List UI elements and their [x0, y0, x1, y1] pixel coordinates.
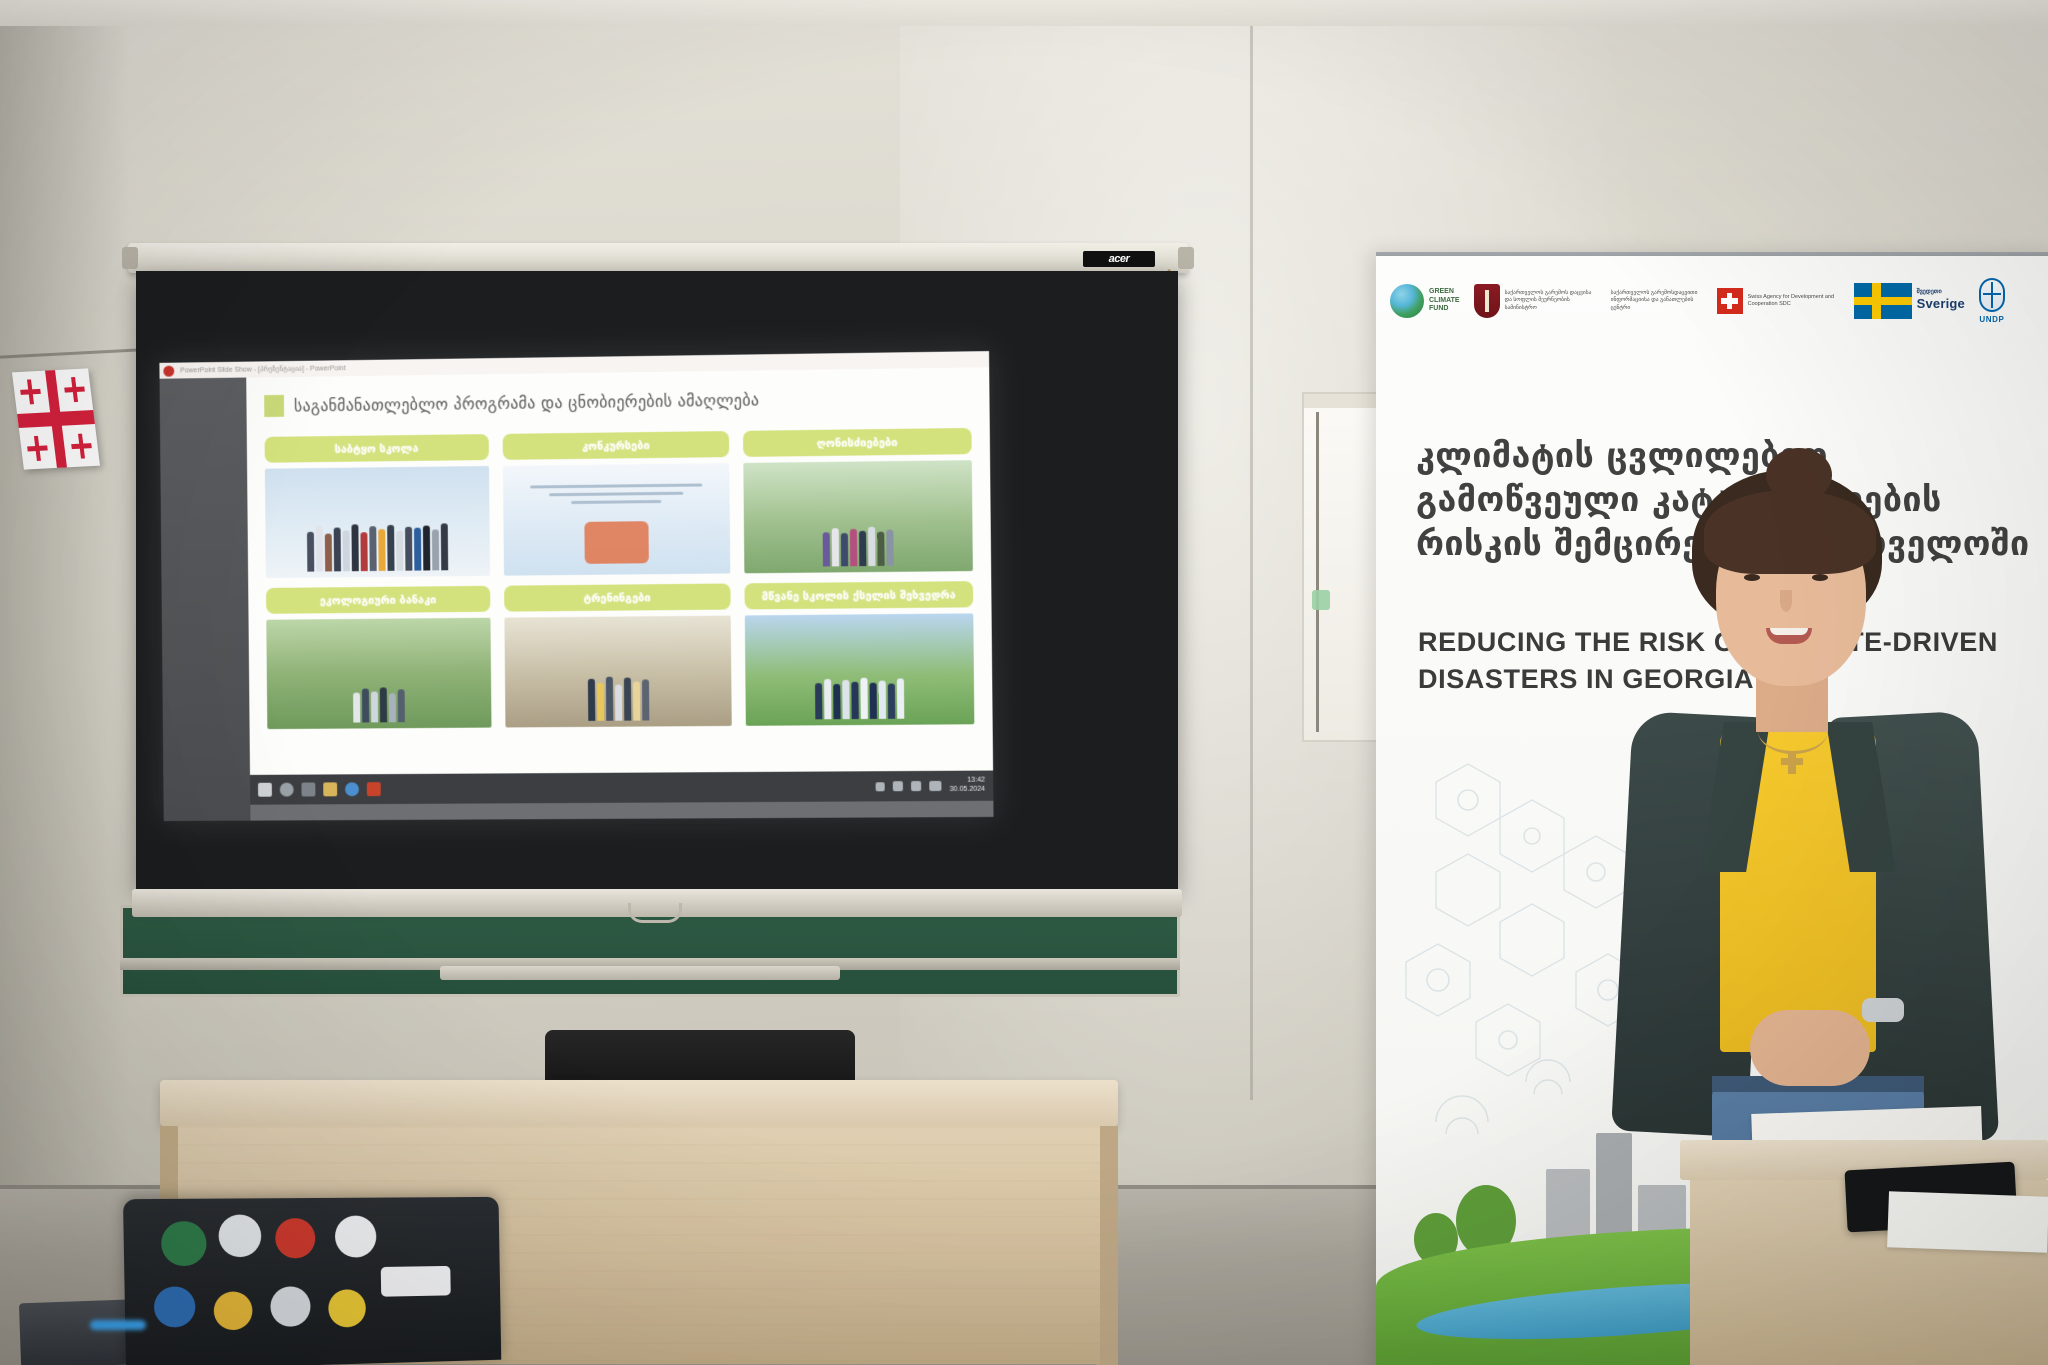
flag-small-cross-2: [63, 376, 86, 402]
slide-cell-photo-outdoor-event: [743, 460, 973, 573]
eyebrow-left: [1740, 562, 1766, 566]
screen-pull-handle[interactable]: [628, 903, 682, 923]
laptop-power-led: [90, 1320, 146, 1330]
poster-graphic: [585, 521, 649, 563]
sweden-caption: შვედეთი Sverige: [1917, 289, 1965, 314]
slide-photo-grid: საბტყო სკოლა: [265, 428, 975, 729]
screen-cap-left: [122, 247, 138, 269]
cross-pendant-icon: [1788, 752, 1796, 774]
agency-caption: საქართველოს გარემოსდაცვითი ინფორმაციისა …: [1611, 290, 1703, 311]
gcf-line-2: CLIMATE: [1429, 297, 1460, 306]
teacher-desk-top[interactable]: [160, 1080, 1118, 1126]
photo-figures: [744, 509, 973, 568]
sticker: [213, 1291, 252, 1330]
green-clip: [1312, 590, 1330, 610]
taskbar-clock[interactable]: 13:42 30.05.2024: [949, 777, 985, 795]
windows-taskbar[interactable]: 13:42 30.05.2024: [250, 771, 993, 805]
powerpoint-icon[interactable]: [367, 782, 381, 796]
slide-cell-label: საბტყო სკოლა: [265, 434, 489, 463]
teeth: [1770, 628, 1808, 635]
undp-laurel-icon: [1979, 278, 2005, 312]
slide-cell-photo-group-photo-snow: [265, 466, 490, 578]
flag-small-cross-3: [26, 435, 49, 461]
slide-cell-label: მწვანე სკოლის ქსელის შეხვედრა: [744, 581, 973, 609]
chevron-up-icon[interactable]: [876, 782, 885, 791]
sweden-flag-icon: [1854, 283, 1912, 319]
slide-heading: საგანმანათლებლო პროგრამა და ცნობიერების …: [294, 390, 760, 415]
banner-top-rail: [1376, 252, 2048, 256]
sweden-caption-ka: შვედეთი: [1917, 289, 1965, 297]
hair-front: [1704, 490, 1876, 574]
slide-cell: ტრენინგები: [504, 583, 732, 727]
slide-cell-label: ეკოლოგიური ბანაკი: [266, 586, 490, 614]
gcf-line-1: GREEN: [1429, 288, 1460, 297]
screen-roller-housing[interactable]: acer: [128, 243, 1188, 273]
sticker: [218, 1214, 261, 1257]
slide-cell-label: კონკურსები: [503, 431, 730, 460]
chalk-tray: [440, 966, 840, 980]
sdc-caption: Swiss Agency for Development and Coopera…: [1748, 294, 1840, 308]
swiss-cooperation-logo: Swiss Agency for Development and Coopera…: [1717, 288, 1840, 314]
coat-of-arms-icon: [1474, 284, 1500, 318]
clock-time: 13:42: [949, 777, 985, 786]
powerpoint-window-title: PowerPoint Slide Show - [პრეზენტაცია] - …: [180, 364, 346, 374]
eye-left: [1744, 574, 1760, 581]
sticker: [335, 1215, 377, 1257]
start-icon[interactable]: [258, 783, 272, 797]
eye-right: [1812, 574, 1828, 581]
slide-letterbox-left: [160, 378, 251, 822]
photo-figures: [265, 514, 490, 572]
necklace: [1758, 708, 1828, 754]
sticker: [161, 1221, 207, 1266]
sticker: [381, 1266, 451, 1297]
ceiling-edge: [0, 0, 2048, 26]
taskbar-spacer: [389, 786, 868, 789]
laptop-stickers: [123, 1197, 501, 1365]
slide-cell-photo-field-camp: [266, 618, 491, 729]
green-climate-fund-logo: GREEN CLIMATE FUND: [1390, 284, 1460, 318]
slide-cell-photo-workshop-training: [504, 616, 731, 728]
task-view-icon[interactable]: [301, 782, 315, 796]
georgia-ministry-logo: საქართველოს გარემოს დაცვისა და სოფლის მე…: [1474, 284, 1597, 318]
flag-small-cross-4: [70, 433, 93, 459]
slide-cell-photo-competition-poster: [503, 463, 730, 576]
ministry-caption: საქართველოს გარემოს დაცვისა და სოფლის მე…: [1505, 290, 1597, 311]
loose-papers[interactable]: [1887, 1191, 2048, 1253]
language-icon[interactable]: [929, 781, 941, 791]
screen-surface: PowerPoint Slide Show - [პრეზენტაცია] - …: [136, 271, 1178, 889]
clock-date: 30.05.2024: [950, 786, 986, 795]
acer-brand-label: acer: [1083, 251, 1155, 267]
projected-slide: PowerPoint Slide Show - [პრეზენტაცია] - …: [159, 351, 993, 821]
flag-cross-horizontal: [17, 410, 95, 428]
swiss-flag-icon: [1717, 288, 1743, 314]
network-icon[interactable]: [893, 781, 903, 791]
sticker: [275, 1218, 316, 1259]
photo-figures: [267, 666, 492, 723]
photo-figures: [505, 664, 732, 722]
environment-agency-logo: საქართველოს გარემოსდაცვითი ინფორმაციისა …: [1611, 290, 1703, 311]
slide-cell-photo-team-group: [745, 613, 975, 725]
sticker: [270, 1286, 311, 1327]
globe-icon: [1390, 284, 1424, 318]
slide-cell: მწვანე სკოლის ქსელის შეხვედრა: [744, 581, 974, 726]
sweden-caption-en: Sverige: [1917, 296, 1965, 313]
slide-cell: კონკურსები: [503, 431, 731, 576]
slide-cell: საბტყო სკოლა: [265, 434, 490, 578]
clasped-hands: [1750, 1010, 1870, 1086]
sticker: [328, 1289, 366, 1328]
volume-icon[interactable]: [911, 781, 921, 791]
nose: [1780, 590, 1792, 612]
wall-left-shadow: [0, 0, 130, 1365]
browser-icon[interactable]: [345, 782, 359, 796]
banner-logo-strip: GREEN CLIMATE FUND საქართველოს გარემოს დ…: [1390, 264, 2048, 338]
folder-icon[interactable]: [323, 782, 337, 796]
eyebrow-right: [1808, 562, 1834, 566]
flag-small-cross-1: [19, 379, 42, 405]
slide-cell-label: ღონისძიებები: [743, 428, 972, 457]
wristwatch: [1862, 998, 1904, 1022]
gcf-line-3: FUND: [1429, 305, 1460, 314]
undp-logo: UNDP: [1979, 278, 2005, 324]
laptop-with-stickers[interactable]: [123, 1197, 501, 1365]
screen-cap-right: [1178, 247, 1194, 269]
door-hinge: [1316, 412, 1319, 732]
powerpoint-icon: [163, 365, 174, 376]
sweden-sverige-logo: შვედეთი Sverige: [1854, 283, 1965, 319]
photo-figures: [745, 662, 974, 720]
undp-caption: UNDP: [1979, 315, 2004, 324]
slide-heading-bullet-icon: [264, 395, 284, 417]
search-icon[interactable]: [280, 783, 294, 797]
projection-screen: acer PowerPoint Slide Show - [პრეზენტაცი…: [128, 243, 1188, 923]
slide-canvas: საგანმანათლებლო პროგრამა და ცნობიერების …: [246, 367, 993, 775]
gcf-logo-text: GREEN CLIMATE FUND: [1429, 288, 1460, 314]
poster-text-lines: [530, 483, 702, 509]
slide-cell-label: ტრენინგები: [504, 583, 731, 611]
slide-cell: ეკოლოგიური ბანაკი: [266, 586, 492, 729]
slide-cell: ღონისძიებები: [743, 428, 973, 573]
wall-seam: [1250, 0, 1253, 1100]
georgian-flag: [12, 368, 100, 469]
slide-heading-row: საგანმანათლებლო პროგრამა და ცნობიერების …: [264, 388, 759, 417]
sticker: [154, 1286, 196, 1328]
scene-root: acer PowerPoint Slide Show - [პრეზენტაცი…: [0, 0, 2048, 1365]
